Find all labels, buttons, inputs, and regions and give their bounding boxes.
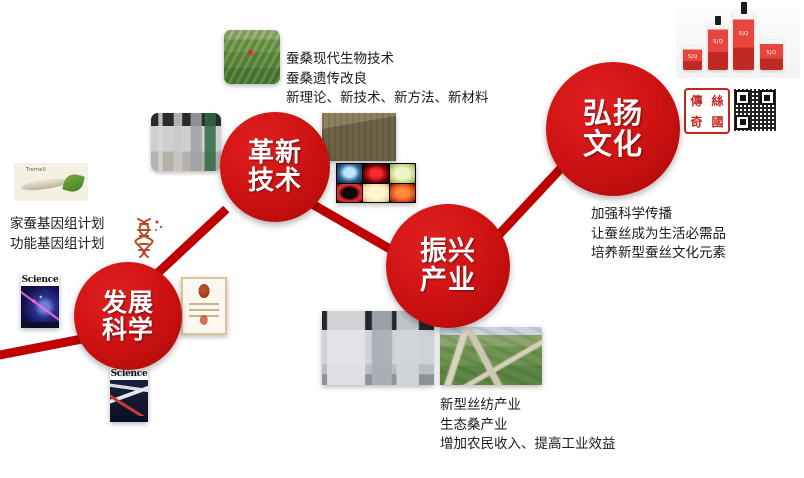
cover-artwork xyxy=(110,380,148,416)
annotation-line: 让蚕丝成为生活必需品 xyxy=(591,225,726,245)
annotation-science: 家蚕基因组计划 功能基因组计划 xyxy=(10,215,105,254)
aerial-mulberry-landscape-photo xyxy=(440,327,542,385)
dna-helix-icon xyxy=(130,215,166,259)
fluorescence-cell xyxy=(337,184,362,203)
annotation-line: 加强科学传播 xyxy=(591,205,726,225)
annotation-line: 新型丝纺产业 xyxy=(440,396,616,416)
node-label-line1: 革新 xyxy=(248,139,302,167)
annotation-line: 增加农民收入、提高工业效益 xyxy=(440,435,616,455)
annotation-line: 新理论、新技术、新方法、新材料 xyxy=(286,89,489,109)
fluorescence-cell xyxy=(390,164,415,183)
cover-artwork xyxy=(21,286,59,322)
node-label-line2: 技术 xyxy=(248,167,302,195)
product-label: SJQ xyxy=(733,31,754,37)
fluorescence-cell xyxy=(363,184,388,203)
silk-material-block-photo xyxy=(322,113,396,161)
silk-factory-equipment-photo xyxy=(322,311,434,385)
award-certificate xyxy=(181,277,227,335)
science-journal-cover: Science xyxy=(110,368,148,422)
mulberry-field-photo xyxy=(224,30,280,84)
node-innovate-technology[interactable]: 革新 技术 xyxy=(220,112,330,222)
annotation-line: 功能基因组计划 xyxy=(10,235,105,255)
lab-equipment-photo xyxy=(151,113,221,171)
annotation-technology: 蚕桑现代生物技术 蚕桑遗传改良 新理论、新技术、新方法、新材料 xyxy=(286,50,489,109)
node-revitalize-industry[interactable]: 振兴 产业 xyxy=(386,204,510,328)
infographic-canvas: Tremell Science Science xyxy=(0,0,804,478)
mulberry-leaf xyxy=(62,172,85,194)
cover-footer xyxy=(21,322,59,328)
national-emblem-icon xyxy=(199,284,210,298)
annotation-culture: 加强科学传播 让蚕丝成为生活必需品 培养新型蚕丝文化元素 xyxy=(591,205,726,264)
annotation-line: 生态桑产业 xyxy=(440,416,616,436)
product-label: SJQ xyxy=(683,54,702,60)
science-journal-cover: Science xyxy=(21,274,59,328)
seal-char: 奇 xyxy=(686,111,707,132)
node-label-line2: 科学 xyxy=(102,316,154,343)
silkworm-illustration: Tremell xyxy=(14,163,88,201)
annotation-line: 培养新型蚕丝文化元素 xyxy=(591,244,726,264)
fluorescence-imaging-grid xyxy=(336,163,416,203)
fluorescence-cell xyxy=(390,184,415,203)
product-label: SJQ xyxy=(760,50,782,56)
node-label-line1: 发展 xyxy=(102,289,154,316)
node-label-line1: 弘扬 xyxy=(583,98,643,129)
annotation-line: 蚕桑遗传改良 xyxy=(286,70,489,90)
node-label-line2: 文化 xyxy=(583,129,643,160)
annotation-industry: 新型丝纺产业 生态桑产业 增加农民收入、提高工业效益 xyxy=(440,396,616,455)
silk-cosmetics-products-photo: SJQ SJQ SJQ SJQ xyxy=(676,2,800,78)
seal-char: 絲 xyxy=(707,90,728,111)
journal-masthead: Science xyxy=(21,274,59,286)
node-develop-science[interactable]: 发展 科学 xyxy=(74,262,182,370)
silkworm-body xyxy=(21,177,69,193)
seal-char: 傳 xyxy=(686,90,707,111)
fluorescence-cell xyxy=(337,164,362,183)
qr-code[interactable] xyxy=(733,88,777,132)
node-label-line2: 产业 xyxy=(420,266,476,295)
product-label: SJQ xyxy=(708,39,728,45)
red-seal-icon xyxy=(200,315,208,326)
annotation-line: 家蚕基因组计划 xyxy=(10,215,105,235)
silkworm-label: Tremell xyxy=(26,167,46,173)
fluorescence-cell xyxy=(363,164,388,183)
cover-footer xyxy=(110,416,148,422)
journal-name: Science xyxy=(21,274,59,286)
node-promote-culture[interactable]: 弘扬 文化 xyxy=(546,62,680,196)
node-label-line1: 振兴 xyxy=(420,237,476,266)
seal-char: 國 xyxy=(707,111,728,132)
brand-seal-stamp: 傳 絲 奇 國 xyxy=(684,88,730,134)
annotation-line: 蚕桑现代生物技术 xyxy=(286,50,489,70)
